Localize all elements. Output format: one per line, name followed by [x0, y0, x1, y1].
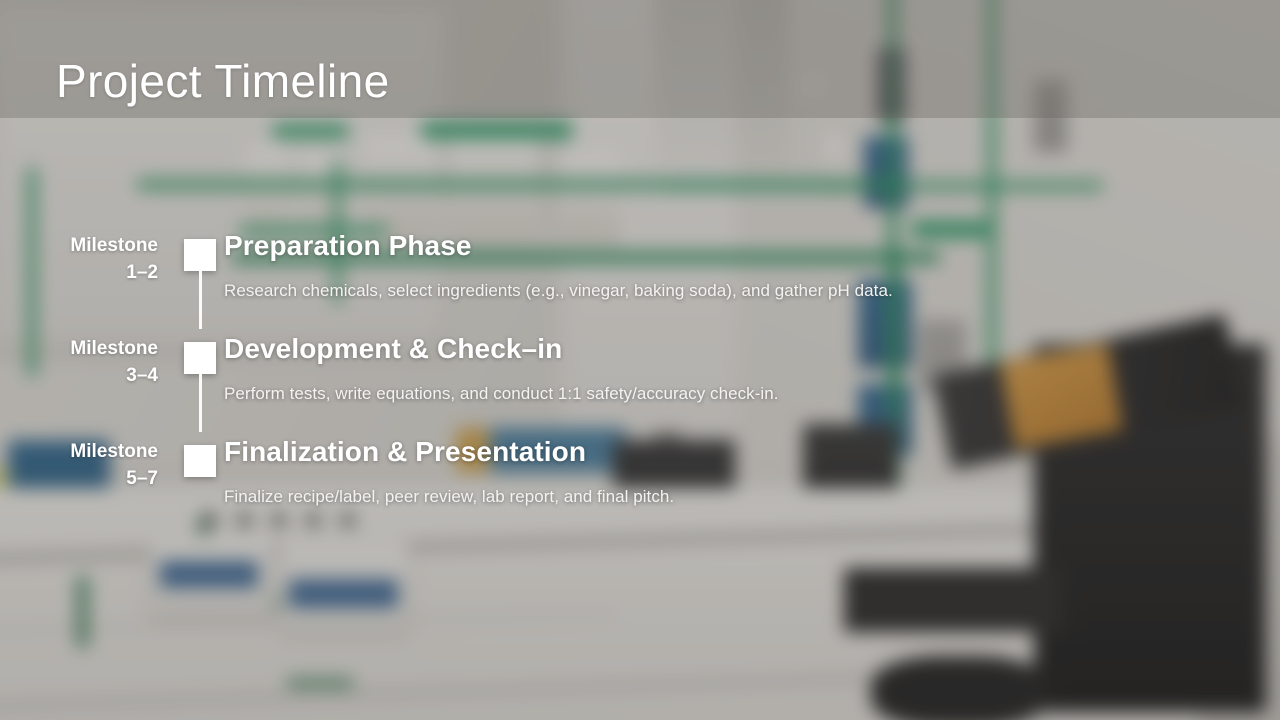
milestone-label: Milestone 3–4 — [56, 329, 176, 390]
milestone-marker-icon[interactable] — [184, 342, 216, 374]
timeline-connector-line — [199, 271, 202, 329]
phase-description: Research chemicals, select ingredients (… — [224, 279, 1236, 303]
timeline-item-text: Finalization & Presentation Finalize rec… — [224, 432, 1236, 509]
phase-heading: Finalization & Presentation — [224, 434, 1236, 469]
milestone-marker-icon[interactable] — [184, 239, 216, 271]
timeline-item[interactable]: Milestone 1–2 Preparation Phase Research… — [56, 226, 1236, 329]
milestone-label: Milestone 1–2 — [56, 226, 176, 287]
timeline-list: Milestone 1–2 Preparation Phase Research… — [56, 226, 1236, 532]
phase-heading: Preparation Phase — [224, 228, 1236, 263]
timeline-item[interactable]: Milestone 3–4 Development & Check–in Per… — [56, 329, 1236, 432]
slide-content: Project Timeline Milestone 1–2 Preparati… — [0, 0, 1280, 720]
timeline-item[interactable]: Milestone 5–7 Finalization & Presentatio… — [56, 432, 1236, 532]
timeline-item-text: Development & Check–in Perform tests, wr… — [224, 329, 1236, 406]
phase-description: Perform tests, write equations, and cond… — [224, 382, 1236, 406]
phase-description: Finalize recipe/label, peer review, lab … — [224, 485, 1236, 509]
timeline-connector-line — [199, 374, 202, 432]
page-title: Project Timeline — [56, 56, 390, 107]
phase-heading: Development & Check–in — [224, 331, 1236, 366]
milestone-marker-icon[interactable] — [184, 445, 216, 477]
timeline-item-text: Preparation Phase Research chemicals, se… — [224, 226, 1236, 303]
milestone-label: Milestone 5–7 — [56, 432, 176, 493]
